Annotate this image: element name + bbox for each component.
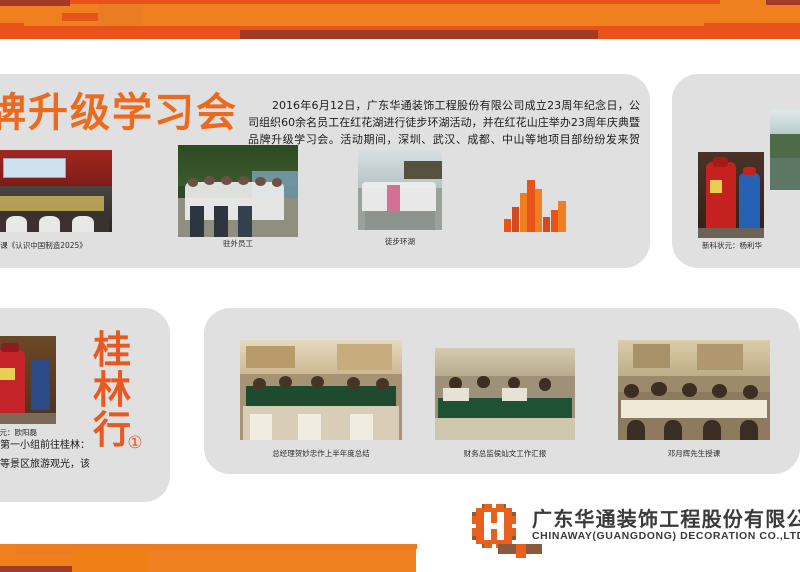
- banner-stripe: [240, 30, 598, 39]
- banner-stripe: [526, 544, 542, 554]
- banner-stripe: [148, 549, 416, 572]
- banner-stripe: [62, 13, 98, 21]
- bottom-decorative-banner: [0, 544, 800, 572]
- logo-company-name-cn: 广东华通装饰工程股份有限公司: [532, 503, 800, 532]
- banner-stripe: [0, 566, 72, 572]
- photo-lake-scenery[interactable]: [770, 110, 800, 190]
- chart-bar: [512, 207, 519, 232]
- section-number-badge: ①: [122, 432, 148, 458]
- photo-manager-summary[interactable]: [240, 340, 402, 440]
- banner-stripe: [143, 4, 430, 26]
- intro-paragraph: 2016年6月12日，广东华通装饰工程股份有限公司成立23周年纪念日，公司组织6…: [248, 97, 640, 165]
- photo-lake-hike[interactable]: [358, 150, 442, 230]
- banner-stripe: [0, 554, 72, 566]
- top-decorative-banner: [0, 0, 800, 40]
- banner-stripe: [766, 0, 800, 5]
- banner-stripe: [432, 0, 728, 4]
- banner-stripe: [72, 549, 148, 572]
- guilin-paragraph-line: 团第一小组前往桂林：: [0, 436, 95, 455]
- section-title-char: 林: [90, 370, 134, 410]
- chinaway-h-logo-icon: [470, 502, 518, 550]
- photo-caption: 邓月辉先生授课: [618, 448, 770, 459]
- photo-caption: 新科状元：杨利华: [684, 240, 780, 251]
- photo-overseas-staff[interactable]: [178, 145, 298, 237]
- poster-page: 牌升级学习会 2016年6月12日，广东华通装饰工程股份有限公司成立23周年纪念…: [0, 0, 800, 572]
- banner-stripe: [0, 23, 24, 39]
- banner-stripe: [430, 4, 720, 26]
- banner-stripe: [704, 23, 800, 39]
- banner-stripe: [0, 8, 62, 20]
- chart-bar: [558, 201, 565, 232]
- photo-new-champion[interactable]: [698, 152, 764, 238]
- chart-bar: [543, 217, 550, 232]
- guilin-paragraph-line: 江等景区旅游观光，该: [0, 455, 95, 474]
- photo-caption: 总授课《认识中国制造2025》: [0, 240, 112, 251]
- banner-stripe: [98, 4, 143, 26]
- page-title: 牌升级学习会: [0, 90, 238, 136]
- chart-bar: [504, 219, 511, 232]
- chart-bar: [527, 180, 534, 232]
- banner-stripe: [498, 544, 516, 554]
- chart-bar: [551, 210, 558, 232]
- photo-caption: 总经理贺妙忠作上半年度总结: [240, 448, 402, 459]
- banner-stripe: [0, 0, 70, 6]
- photo-caption: 驻外员工: [178, 238, 298, 249]
- section-title-guilin: 桂林行: [90, 330, 134, 450]
- photo-caption: 财务总监侯灿文工作汇报: [435, 448, 575, 459]
- decorative-bar-chart: [504, 180, 566, 232]
- banner-stripe: [516, 544, 526, 558]
- photo-caption: 徒步环湖: [358, 236, 442, 247]
- photo-lecture-hall[interactable]: [0, 150, 112, 232]
- photo-finance-report[interactable]: [435, 348, 575, 440]
- banner-stripe: [0, 544, 16, 554]
- guilin-paragraph: 团第一小组前往桂林：江等景区旅游观光，该: [0, 436, 95, 474]
- photo-training-lecture[interactable]: [618, 340, 770, 440]
- chart-bar: [535, 189, 542, 232]
- photo-champion-ouyang[interactable]: [0, 336, 56, 424]
- chart-bar: [520, 193, 527, 232]
- logo-company-name-en: CHINAWAY(GUANGDONG) DECORATION CO.,LTD: [532, 530, 800, 542]
- section-title-char: 桂: [90, 330, 134, 370]
